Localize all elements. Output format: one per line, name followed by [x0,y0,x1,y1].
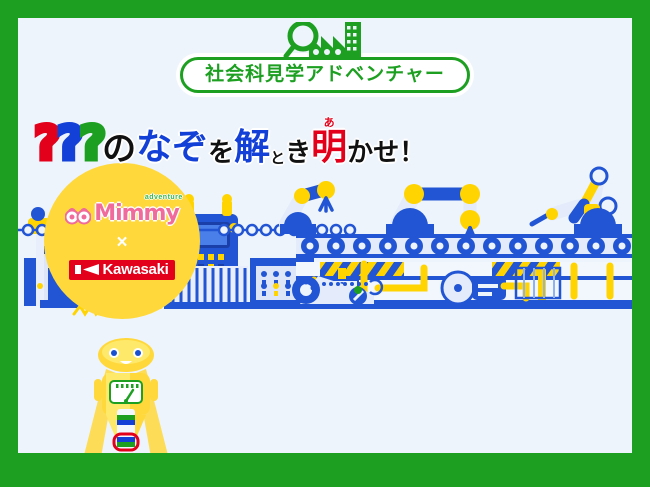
binoculars-icon [65,207,91,225]
headline-part-ki: き [285,140,311,166]
headline-part-akasu-text: 明 [311,127,347,168]
yellow-robot-mascot [76,333,176,453]
title-badge-label: 社会科見学アドベンチャー [205,65,445,84]
poster-frame: Mimmy adventure × Kawasaki [0,0,650,487]
title-badge-group: 社会科見学アドベンチャー [160,22,490,93]
headline-part-se: せ [373,140,399,166]
headline-part-no: の [102,132,136,166]
headline-part-excl: ！ [399,140,425,166]
headline-part-wo: を [208,140,234,166]
mimmy-logo: Mimmy adventure [65,203,179,225]
collab-cross: × [116,233,127,252]
factory-magnifier-icon [265,22,385,58]
question-mark-3: ? [79,120,106,166]
headline-part-akasu: あ 明 [311,130,347,166]
headline-part-na: な [136,130,172,166]
robotic-arm-welder [532,168,622,236]
headline-part-to: と [270,151,285,166]
conveyor-belt [296,234,632,258]
headline-part-ka: か [347,140,373,166]
headline: ? ? ? の な ぞ を 解 と き あ 明 か せ ！ [34,120,425,166]
kawasaki-logo: Kawasaki [69,260,176,280]
headline-part-toku: 解 [234,130,270,166]
mimmy-wordmark: Mimmy [94,203,179,225]
brand-collab-badge: Mimmy adventure × Kawasaki [44,163,200,319]
kawasaki-wordmark: Kawasaki [103,262,169,277]
mimmy-tagline: adventure [145,194,183,201]
title-badge: 社会科見学アドベンチャー [180,57,470,93]
headline-part-zo: ぞ [172,130,208,166]
poster-panel: Mimmy adventure × Kawasaki [18,18,632,453]
headline-ruby-a: あ [324,117,335,128]
kawasaki-flying-k-icon [75,264,99,275]
